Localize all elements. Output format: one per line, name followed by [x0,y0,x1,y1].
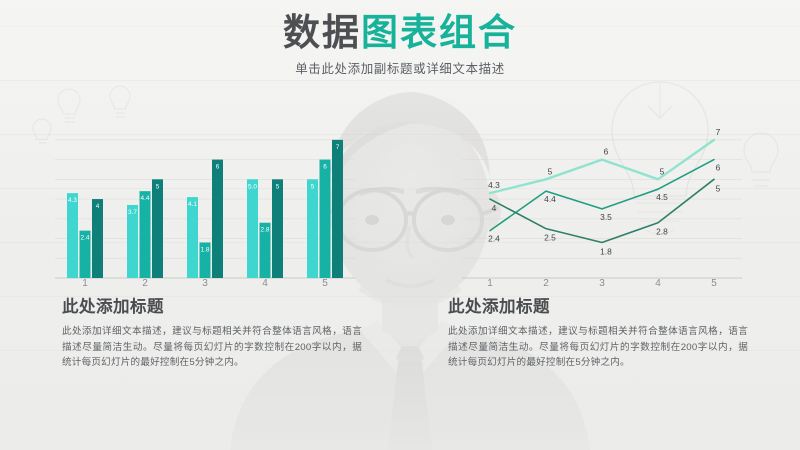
bar-chart-plot: 4.32.443.74.454.11.865.02.85567 [55,128,355,278]
svg-text:2.4: 2.4 [81,235,90,242]
svg-text:4.4: 4.4 [141,195,150,202]
svg-text:5: 5 [660,166,665,176]
column-body: 此处添加详细文本描述，建议与标题相关并符合整体语言风格，语言描述尽量简洁生动。尽… [448,324,748,371]
text-column-right: 此处添加标题 此处添加详细文本描述，建议与标题相关并符合整体语言风格，语言描述尽… [448,293,748,371]
bar-chart: 4.32.443.74.454.11.865.02.85567 12345 [55,128,355,278]
x-tick-label: 4 [262,278,268,289]
x-tick-label: 1 [487,278,493,289]
svg-text:3.7: 3.7 [128,209,137,216]
x-tick-label: 5 [322,278,328,289]
text-column-left: 此处添加标题 此处添加详细文本描述，建议与标题相关并符合整体语言风格，语言描述尽… [62,293,362,371]
x-tick-label: 4 [655,278,661,289]
x-tick-label: 3 [599,278,605,289]
svg-text:1.8: 1.8 [201,246,210,253]
line-chart-series [490,140,714,243]
svg-text:5: 5 [276,183,280,190]
svg-text:6: 6 [716,163,721,173]
svg-text:1.8: 1.8 [600,246,612,256]
line-chart-x-axis-labels: 12345 [462,278,742,294]
svg-text:4.5: 4.5 [656,192,668,202]
line-chart-value-labels: 4.356572.44.43.54.5642.51.82.85 [488,127,720,257]
x-tick-label: 5 [711,278,717,289]
svg-text:5: 5 [548,166,553,176]
x-tick-label: 1 [82,278,88,289]
svg-text:7: 7 [716,127,721,137]
svg-text:6: 6 [604,147,609,157]
page-subtitle: 单击此处添加副标题或详细文本描述 [0,58,800,77]
x-tick-label: 3 [202,278,208,289]
x-tick-label: 2 [543,278,549,289]
svg-text:3.5: 3.5 [600,212,612,222]
line-chart-plot: 4.356572.44.43.54.5642.51.82.85 [462,128,742,278]
bar-chart-value-labels: 4.32.443.74.454.11.865.02.85567 [68,144,340,254]
svg-text:4.3: 4.3 [488,180,500,190]
svg-text:5: 5 [716,183,721,193]
bar-chart-bars [67,140,343,278]
svg-text:4.3: 4.3 [68,197,77,204]
column-heading: 此处添加标题 [62,293,362,317]
page-title: 数据图表组合 [0,14,800,51]
svg-text:5: 5 [156,183,160,190]
svg-text:2.8: 2.8 [656,227,668,237]
svg-text:4: 4 [96,203,100,210]
x-tick-label: 2 [142,278,148,289]
svg-text:5: 5 [311,183,315,190]
svg-text:2.4: 2.4 [488,234,500,244]
svg-text:2.5: 2.5 [544,233,556,243]
title-block: 数据图表组合 单击此处添加副标题或详细文本描述 [0,14,800,77]
svg-text:6: 6 [323,164,327,171]
svg-text:6: 6 [216,164,220,171]
page-title-part-accent: 图表组合 [361,12,517,53]
svg-text:4.4: 4.4 [544,194,556,204]
svg-text:2.8: 2.8 [261,227,270,234]
page-title-part-dark: 数据 [283,12,361,53]
column-heading: 此处添加标题 [448,293,748,317]
svg-text:4: 4 [492,203,497,213]
svg-text:4.1: 4.1 [188,201,197,208]
svg-text:5.0: 5.0 [248,183,257,190]
bar-chart-x-axis-labels: 12345 [55,278,355,294]
svg-text:7: 7 [336,144,340,151]
column-body: 此处添加详细文本描述，建议与标题相关并符合整体语言风格，语言描述尽量简洁生动。尽… [62,324,362,371]
line-chart: 4.356572.44.43.54.5642.51.82.85 12345 [462,128,742,278]
